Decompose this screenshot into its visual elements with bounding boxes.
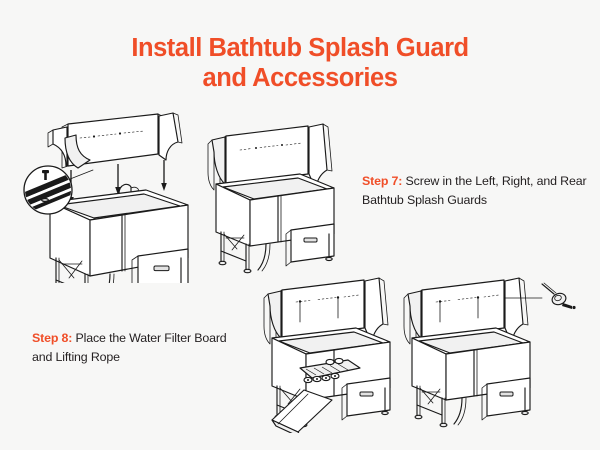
left-splash-guard [208,137,225,190]
left-splash-guard [404,291,421,344]
illustration-bathtub-assembled-splash-guards [196,110,361,275]
step-7-label: Step 7: [362,174,402,188]
drain-hose [100,274,114,283]
page-title-line-2: and Accessories [0,63,600,93]
step-7-caption: Step 7: Screw in the Left, Right, and Re… [362,172,592,210]
step-8-caption: Step 8: Place the Water Filter Board and… [32,329,247,367]
illustration-bathtub-exploded-splash-guards [18,108,208,283]
left-splash-guard [264,291,281,344]
left-splash-guard-panel [48,127,67,166]
access-ramp [272,390,332,433]
page-title: Install Bathtub Splash Guard and Accesso… [0,33,600,93]
lifting-rope-clip [542,283,576,309]
illustration-bathtub-lifting-rope [392,268,582,433]
drain-hose [454,398,466,425]
infographic-canvas: Install Bathtub Splash Guard and Accesso… [0,0,600,450]
step-8-label: Step 8: [32,331,72,345]
page-title-line-1: Install Bathtub Splash Guard [0,33,600,63]
drain-hose [258,244,270,271]
right-splash-guard-panel [159,113,182,160]
